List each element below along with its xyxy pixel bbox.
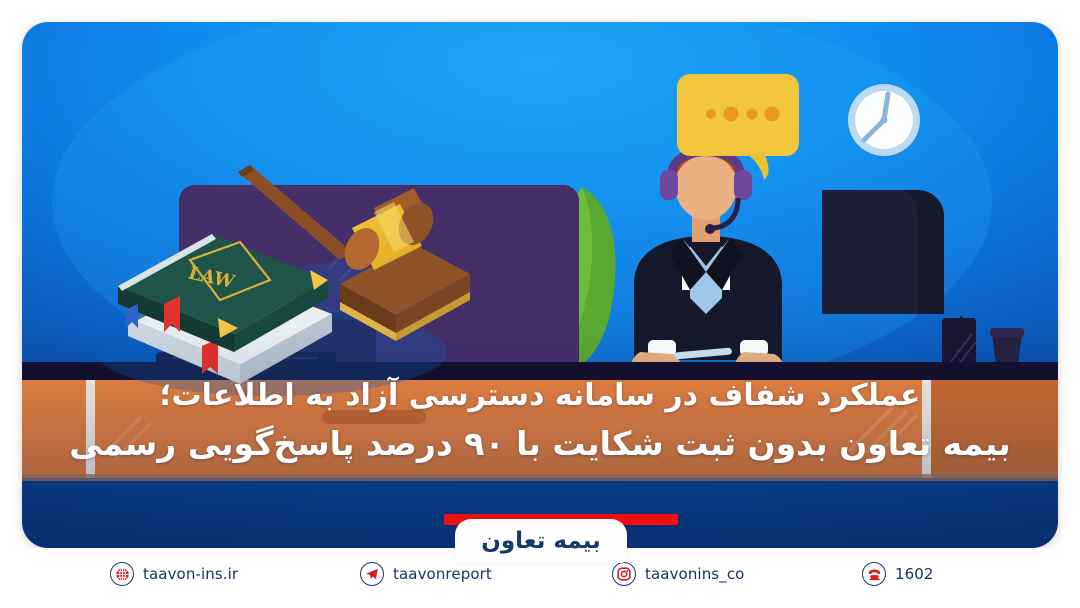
headline-line-2: بیمه تعاون بدون ثبت شکایت با ۹۰ درصد پاس… xyxy=(22,420,1058,468)
banner-card: LAW xyxy=(22,22,1058,548)
footer-link-instagram[interactable]: taavonins_co xyxy=(612,562,744,586)
brand-logo-text: بیمه تعاون xyxy=(481,530,601,553)
telephone-icon xyxy=(862,562,886,586)
banner-root: LAW xyxy=(0,0,1080,608)
headline-block: عملکرد شفاف در سامانه دسترسی آزاد به اطل… xyxy=(22,374,1058,468)
illustration: LAW xyxy=(22,22,1058,548)
footer-link-phone-label: 1602 xyxy=(895,565,934,583)
wall-clock-icon xyxy=(848,84,920,156)
footer-link-phone[interactable]: 1602 xyxy=(862,562,934,586)
footer-link-instagram-label: taavonins_co xyxy=(645,565,744,583)
telegram-icon xyxy=(360,562,384,586)
footer-link-website-label: taavon-ins.ir xyxy=(143,565,238,583)
footer-link-website[interactable]: taavon-ins.ir xyxy=(110,562,238,586)
headline-line-1: عملکرد شفاف در سامانه دسترسی آزاد به اطل… xyxy=(22,374,1058,418)
footer-link-telegram-label: taavonreport xyxy=(393,565,492,583)
instagram-icon xyxy=(612,562,636,586)
brand-logo-tab: بیمه تعاون xyxy=(455,519,627,563)
footer-link-telegram[interactable]: taavonreport xyxy=(360,562,492,586)
globe-icon xyxy=(110,562,134,586)
office-chair xyxy=(822,190,944,314)
